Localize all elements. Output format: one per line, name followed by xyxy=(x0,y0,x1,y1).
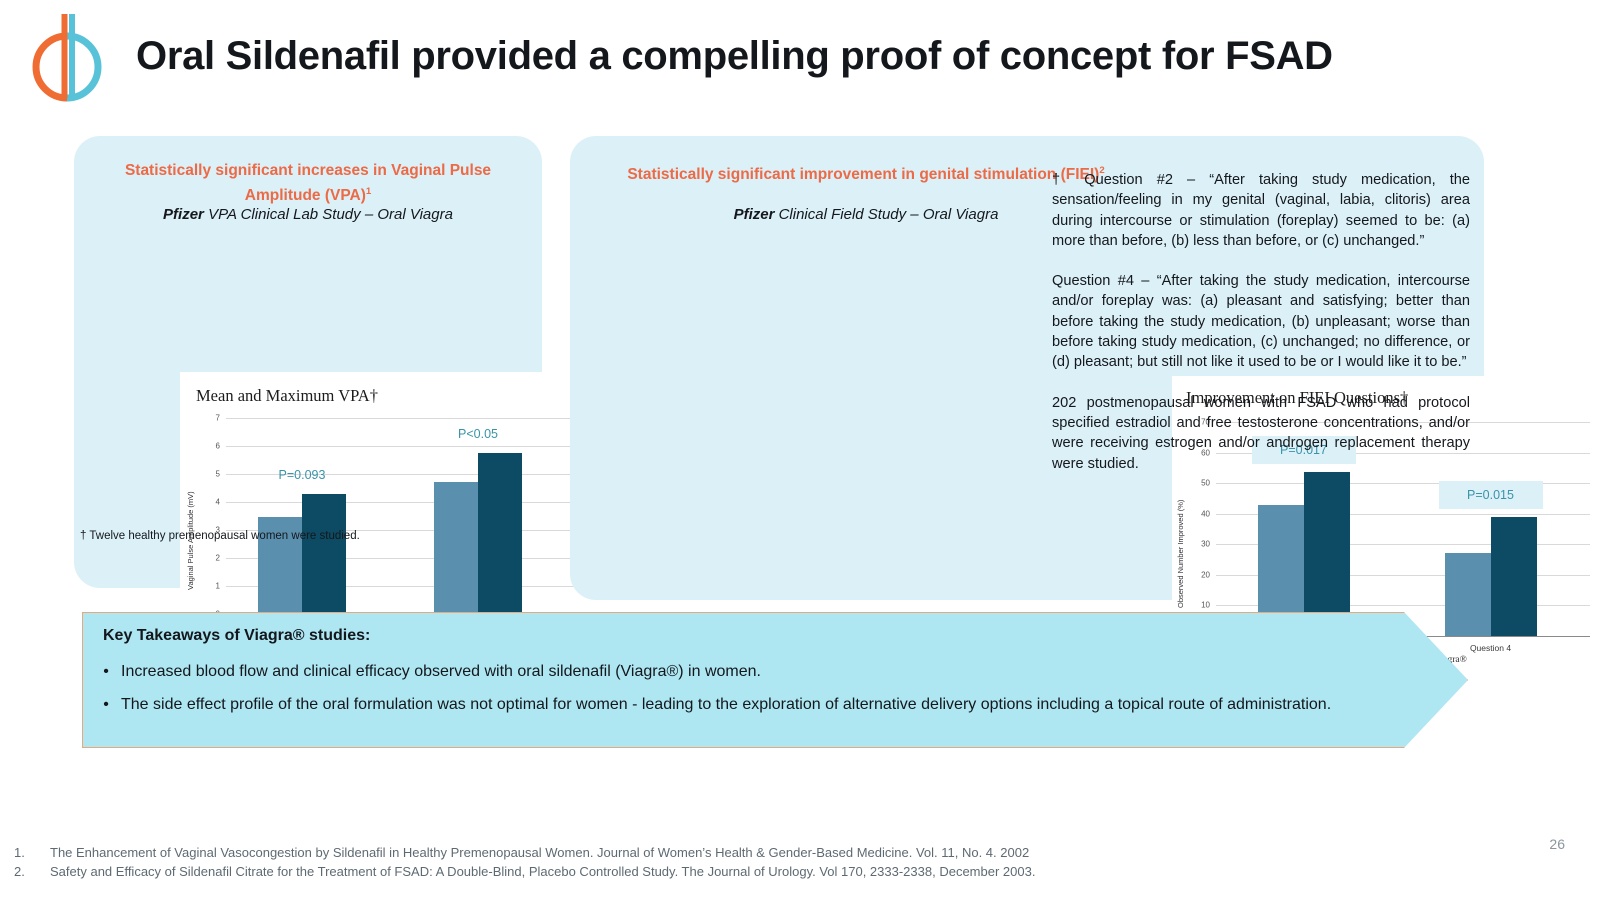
bullet-icon: • xyxy=(103,692,109,717)
panel-left-heading-text: Statistically significant increases in V… xyxy=(125,162,491,204)
takeaway-text: Increased blood flow and clinical effica… xyxy=(121,659,761,684)
bar-viagra xyxy=(302,494,346,614)
panel-right-heading: Statistically significant improvement in… xyxy=(608,160,1124,185)
reference-row: 1.The Enhancement of Vaginal Vasocongest… xyxy=(14,843,1414,862)
reference-row: 2.Safety and Efficacy of Sildenafil Citr… xyxy=(14,862,1414,881)
chart-vpa-title: Mean and Maximum VPA† xyxy=(196,386,378,406)
panel-right-sub-rest: Clinical Field Study – Oral Viagra xyxy=(774,206,998,223)
y-axis-tick: 2 xyxy=(198,554,220,563)
gridline xyxy=(226,446,578,447)
panel-left-heading: Statistically significant increases in V… xyxy=(92,160,524,206)
company-logo-icon xyxy=(28,8,106,106)
y-axis-tick: 6 xyxy=(198,442,220,451)
bar-viagra xyxy=(1304,472,1350,636)
y-axis-tick: 30 xyxy=(1188,540,1210,549)
references-list: 1.The Enhancement of Vaginal Vasocongest… xyxy=(14,843,1414,881)
panel-left-subheading: Pfizer VPA Clinical Lab Study – Oral Via… xyxy=(92,204,524,225)
bar-viagra xyxy=(478,453,522,614)
slide-header: Oral Sildenafil provided a compelling pr… xyxy=(0,0,1599,118)
y-axis-tick: 5 xyxy=(198,470,220,479)
x-axis-tick: Question 4 xyxy=(1470,643,1511,653)
bar-viagra xyxy=(1491,517,1537,636)
chart-vpa-plot-area: 01234567Mean (Erotic)Maximum (Erotic)P=0… xyxy=(226,418,578,614)
reference-text: Safety and Efficacy of Sildenafil Citrat… xyxy=(50,862,1035,881)
gridline xyxy=(226,418,578,419)
panel-vpa-study: Statistically significant increases in V… xyxy=(74,136,542,588)
question-4-text: Question #4 – “After taking the study me… xyxy=(1052,271,1470,372)
reference-number: 2. xyxy=(14,862,50,881)
gridline xyxy=(226,502,578,503)
question-2-text: † Question #2 – “After taking study medi… xyxy=(1052,170,1470,251)
page-title: Oral Sildenafil provided a compelling pr… xyxy=(136,34,1536,79)
takeaway-text: The side effect profile of the oral form… xyxy=(121,692,1331,717)
p-value-annotation: P<0.05 xyxy=(436,427,520,441)
panel-right-sub-brand: Pfizer xyxy=(734,206,775,223)
y-axis-tick: 4 xyxy=(198,498,220,507)
key-takeaways-list: •Increased blood flow and clinical effic… xyxy=(103,659,1403,725)
y-axis-tick: 50 xyxy=(1188,479,1210,488)
panel-left-sub-rest: VPA Clinical Lab Study – Oral Viagra xyxy=(204,206,453,223)
panel-left-heading-ref: 1 xyxy=(366,186,371,197)
y-axis-tick: 1 xyxy=(198,582,220,591)
y-axis-tick: 40 xyxy=(1188,509,1210,518)
p-value-annotation: P=0.015 xyxy=(1439,481,1543,509)
y-axis-tick: 7 xyxy=(198,414,220,423)
takeaway-item: •The side effect profile of the oral for… xyxy=(103,692,1403,717)
y-axis-tick: 20 xyxy=(1188,570,1210,579)
panel-right-subheading: Pfizer Clinical Field Study – Oral Viagr… xyxy=(608,204,1124,225)
key-takeaways-title: Key Takeaways of Viagra® studies: xyxy=(103,627,370,645)
page-number: 26 xyxy=(1549,836,1565,852)
key-takeaways-banner: Key Takeaways of Viagra® studies: •Incre… xyxy=(82,612,1468,748)
chart-vpa-ylabel: Vaginal Pulse Amplitude (mV) xyxy=(186,460,195,590)
panel-left-sub-brand: Pfizer xyxy=(163,206,204,223)
reference-number: 1. xyxy=(14,843,50,862)
questions-text-column: † Question #2 – “After taking study medi… xyxy=(1052,170,1470,474)
bar-placebo xyxy=(1445,553,1491,636)
takeaway-item: •Increased blood flow and clinical effic… xyxy=(103,659,1403,684)
chart-vpa-footnote: † Twelve healthy premenopausal women wer… xyxy=(80,530,360,542)
p-value-annotation: P=0.093 xyxy=(260,468,344,482)
y-axis-tick: 10 xyxy=(1188,601,1210,610)
bullet-icon: • xyxy=(103,659,109,684)
study-population-text: 202 postmenopausal women with FSAD who h… xyxy=(1052,393,1470,474)
panel-right-heading-text: Statistically significant improvement in… xyxy=(627,166,1099,183)
bar-placebo xyxy=(434,482,478,614)
reference-text: The Enhancement of Vaginal Vasocongestio… xyxy=(50,843,1029,862)
